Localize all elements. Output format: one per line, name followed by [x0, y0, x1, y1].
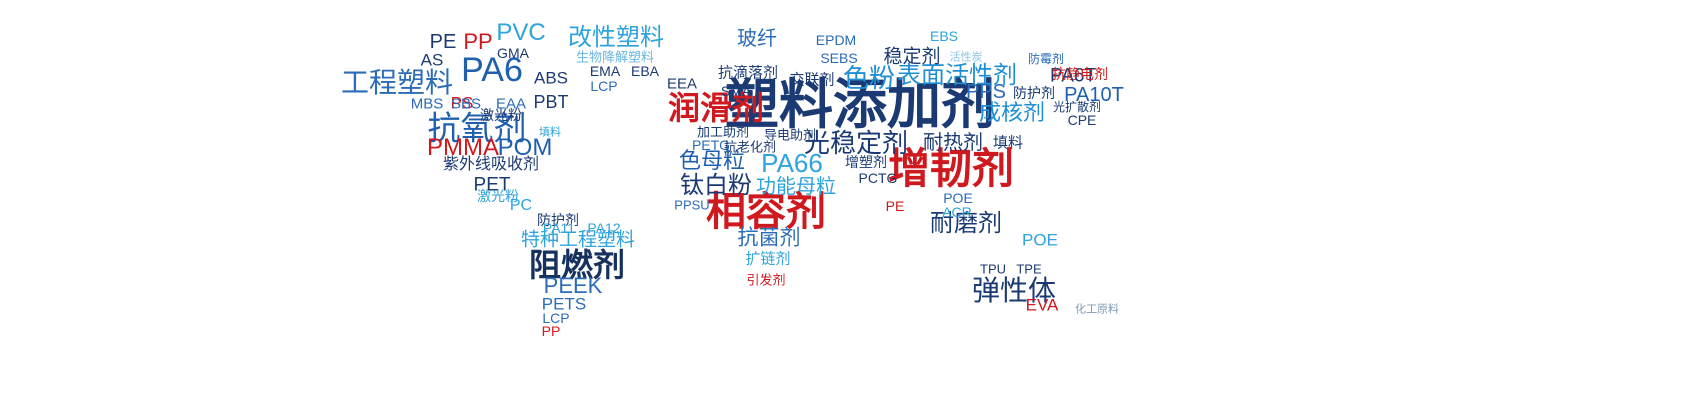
word-cloud-term[interactable]: 抗滴落剂 — [718, 66, 778, 81]
word-cloud-term[interactable]: 玻纤 — [737, 29, 777, 49]
word-cloud-term[interactable]: 稳定剂 — [883, 48, 940, 67]
word-cloud-term[interactable]: 耐热剂 — [923, 133, 983, 153]
word-cloud-term[interactable]: EVA — [1026, 297, 1059, 314]
word-cloud-term[interactable]: PE — [886, 199, 905, 213]
word-cloud-term[interactable]: 光扩散剂 — [1053, 101, 1101, 113]
word-cloud-term[interactable]: PC — [510, 198, 532, 214]
word-cloud-term[interactable]: 增塑剂 — [845, 155, 887, 169]
word-cloud-term[interactable]: 填料 — [993, 136, 1023, 151]
word-cloud-term[interactable]: 成核剂 — [979, 102, 1045, 124]
word-cloud-term[interactable]: CPE — [1068, 113, 1097, 127]
word-cloud-term[interactable]: PCTG — [859, 171, 898, 185]
word-cloud-term[interactable]: PE — [430, 32, 457, 52]
word-cloud-term[interactable]: 生物降解塑料 — [576, 51, 654, 64]
word-cloud-term[interactable]: EBA — [631, 64, 659, 78]
word-cloud-term[interactable]: 抗静电剂 — [1052, 67, 1108, 81]
word-cloud-term[interactable]: EMA — [590, 64, 620, 78]
word-cloud-term[interactable]: 功能母粒 — [756, 177, 836, 197]
word-cloud-term[interactable]: SEBS — [820, 51, 857, 65]
word-cloud-term[interactable]: EPDM — [816, 33, 856, 47]
word-cloud-term[interactable]: 引发剂 — [746, 274, 785, 287]
word-cloud-term[interactable]: 防护剂 — [1013, 86, 1055, 100]
word-cloud-term[interactable]: PP — [463, 31, 492, 53]
word-cloud-term[interactable]: POE — [943, 191, 973, 205]
word-cloud-term[interactable]: AS — [421, 52, 444, 69]
word-cloud-term[interactable]: 改性塑料 — [568, 26, 664, 50]
word-cloud-term[interactable]: TPU — [980, 263, 1006, 276]
word-cloud-term[interactable]: PA11 — [543, 221, 575, 235]
word-cloud-term[interactable]: SBS — [451, 97, 481, 112]
word-cloud-term[interactable]: 钛白粉 — [680, 174, 752, 198]
word-cloud-term[interactable]: PVC — [496, 21, 545, 45]
word-cloud-term[interactable]: PP — [542, 324, 561, 338]
word-cloud-term[interactable]: POE — [1022, 232, 1058, 249]
word-cloud-term[interactable]: 抗老化剂 — [724, 141, 776, 154]
word-cloud-term[interactable]: 防霉剂 — [1028, 53, 1064, 65]
word-cloud-term[interactable]: GMA — [497, 46, 529, 60]
word-cloud-term[interactable]: 交联剂 — [789, 73, 834, 88]
word-cloud-term[interactable]: 填料 — [539, 128, 561, 139]
word-cloud-term[interactable]: PA12 — [587, 221, 620, 235]
word-cloud-term[interactable]: MBS — [411, 97, 444, 112]
word-cloud-term[interactable]: LCP — [590, 79, 617, 93]
word-cloud-term[interactable]: EAA — [496, 97, 526, 112]
word-cloud-term[interactable]: ABS — [534, 70, 568, 87]
word-cloud-term[interactable]: PPS — [966, 82, 1006, 102]
word-cloud-term[interactable]: TPE — [1016, 263, 1041, 276]
word-cloud-term[interactable]: 抗菌剂 — [738, 228, 801, 249]
word-cloud-term[interactable]: 紫外线吸收剂 — [443, 157, 539, 173]
word-cloud-term[interactable]: 活性炭 — [950, 53, 983, 64]
word-cloud-term[interactable]: 化工原料 — [1075, 305, 1119, 316]
word-cloud-term[interactable]: PPSU — [674, 199, 709, 212]
word-cloud-term[interactable]: 工程塑料 — [341, 69, 453, 97]
word-cloud-term[interactable]: 扩链剂 — [745, 252, 790, 267]
word-cloud-term[interactable]: EEA — [667, 77, 697, 92]
word-cloud-term[interactable]: EBS — [930, 29, 958, 43]
word-cloud-term[interactable]: 加工助剂 — [697, 126, 749, 139]
word-cloud-term[interactable]: 色粉 — [843, 65, 895, 91]
word-cloud-term[interactable]: SMA — [721, 84, 751, 98]
word-cloud-term[interactable]: ACR — [942, 205, 972, 219]
word-cloud-canvas: 塑料添加剂增韧剂相容剂润滑剂阻燃剂抗氧剂工程塑料PA6光稳定剂表面活性剂弹性体P… — [0, 0, 1707, 400]
word-cloud-term[interactable]: PBT — [533, 93, 568, 111]
